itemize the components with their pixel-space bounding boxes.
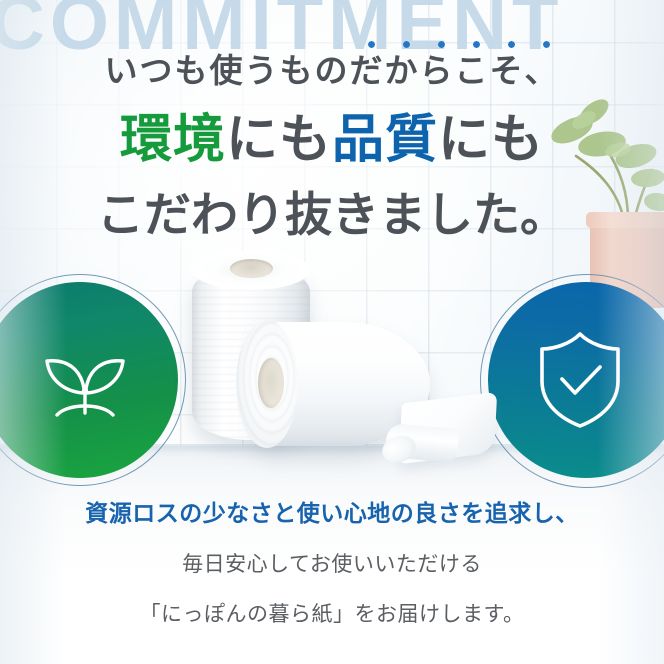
sprout-leaf-icon — [37, 337, 133, 423]
headline-keyword-environment: 環境 — [120, 111, 226, 169]
headline-line-2-conj-1: にも — [226, 111, 332, 169]
shield-check-icon — [534, 329, 626, 431]
footer-copy-block: 資源ロスの少なさと使い心地の良さを追求し、 毎日安心してお使いいただける 「にっ… — [0, 494, 664, 628]
headline-line-2: 環境にも品質にも — [0, 114, 664, 166]
headline-line-1-plain: いつも使うもの — [105, 52, 350, 89]
headline-block: いつも使うものだからこそ、 環境にも品質にも こだわり抜きました。 — [0, 54, 664, 238]
toilet-paper-products — [150, 250, 530, 480]
footer-line-1: 資源ロスの少なさと使い心地の良さを追求し、 — [0, 494, 664, 528]
headline-line-1: いつも使うものだからこそ、 — [0, 54, 664, 87]
headline-line-3: こだわり抜きました。 — [0, 191, 664, 238]
headline-line-1-emphasis: だからこそ、 — [350, 54, 560, 87]
footer-line-2: 毎日安心してお使いいただける — [0, 548, 664, 578]
headline-line-2-conj-2: にも — [438, 111, 544, 169]
lying-roll-core-hole — [258, 358, 284, 408]
footer-line-3: 「にっぽんの暮ら紙」をお届けします。 — [0, 598, 664, 628]
headline-keyword-quality: 品質 — [332, 111, 438, 169]
standing-roll-core-hole — [230, 259, 273, 278]
commitment-poster: COMMITMENT — [0, 0, 664, 664]
